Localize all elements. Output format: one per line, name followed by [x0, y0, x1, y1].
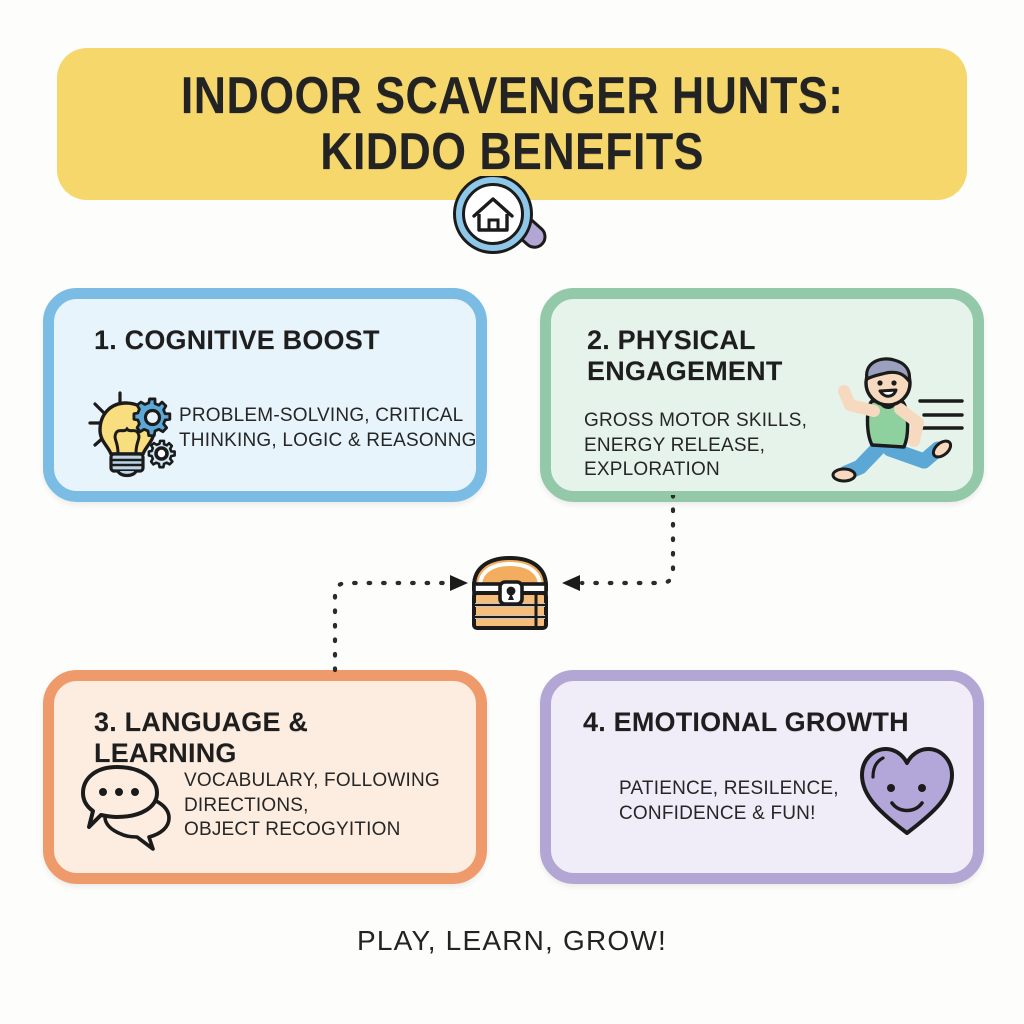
treasure-chest-icon	[466, 552, 558, 634]
speech-bubbles-icon	[79, 759, 185, 851]
card-title-1: 1. COGNITIVE BOOST	[94, 325, 452, 356]
infographic-poster: INDOOR SCAVENGER HUNTS: KIDDO BENEFITS 1…	[0, 0, 1024, 1024]
benefit-card-physical-engagement[interactable]: 2. PHYSICAL ENGAGEMENT GROSS MOTOR SKILL…	[540, 288, 984, 502]
benefit-card-emotional-growth[interactable]: 4. EMOTIONAL GROWTH PATIENCE, RESILENCE,…	[540, 670, 984, 884]
footer-tagline: PLAY, LEARN, GROW!	[0, 925, 1024, 957]
smiling-heart-icon	[856, 743, 958, 839]
card-body-2: GROSS MOTOR SKILLS, ENERGY RELEASE, EXPL…	[584, 409, 854, 483]
magnifying-glass-house-icon	[449, 176, 559, 262]
card-body-1: PROBLEM-SOLVING, CRITICAL THINKING, LOGI…	[179, 404, 479, 453]
page-title-line-2: KIDDO BENEFITS	[320, 124, 704, 180]
benefit-card-cognitive-boost[interactable]: 1. COGNITIVE BOOST	[43, 288, 487, 502]
running-child-icon	[828, 357, 968, 487]
card-body-4: PATIENCE, RESILENCE, CONFIDENCE & FUN!	[619, 777, 889, 826]
card-title-4: 4. EMOTIONAL GROWTH	[583, 707, 949, 738]
page-title-line-1: INDOOR SCAVENGER HUNTS:	[181, 68, 844, 124]
benefit-card-language-learning[interactable]: 3. LANGUAGE & LEARNING VOCABULARY, FOLLO…	[43, 670, 487, 884]
card-body-3: VOCABULARY, FOLLOWING DIRECTIONS, OBJECT…	[184, 769, 474, 843]
lightbulb-gears-icon	[82, 387, 180, 487]
